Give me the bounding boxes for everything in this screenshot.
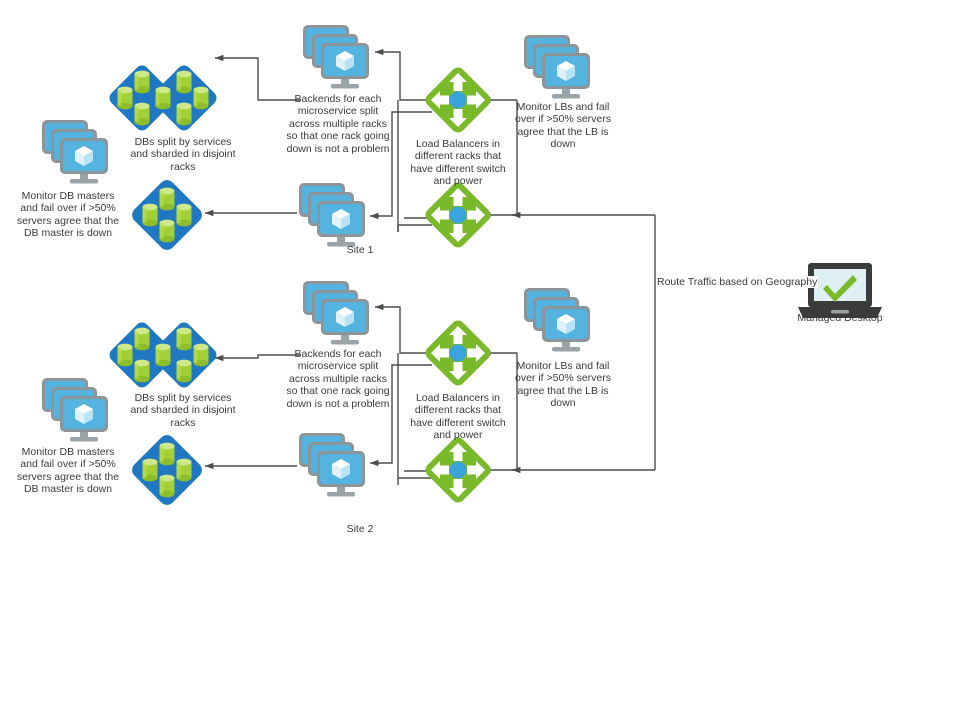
site-1-db-monitor[interactable] — [42, 120, 108, 184]
site-2-load-balancer-secondary[interactable] — [423, 435, 494, 506]
geo-routing-label: Route Traffic based on Geography — [656, 276, 818, 288]
site-2-load-balancer-primary[interactable] — [423, 318, 494, 389]
site-2-backend-servers-secondary[interactable] — [299, 433, 365, 497]
site-1-db-monitor-caption: Monitor DB masters and fail over if >50%… — [8, 190, 128, 240]
site-1-backend-servers-secondary[interactable] — [299, 183, 365, 247]
geo-routing-connectors — [512, 215, 808, 470]
site-1-label: Site 1 — [330, 244, 390, 256]
site-1-load-balancers-caption: Load Balancers in different racks that h… — [405, 138, 511, 188]
site-1-load-balancer-primary[interactable] — [423, 65, 494, 136]
diagram-canvas — [0, 0, 960, 720]
managed-desktop-icon[interactable] — [798, 263, 882, 318]
site-1-db-cluster[interactable] — [107, 63, 220, 134]
managed-desktop-label: Managed Desktop — [790, 312, 890, 324]
site-1-lb-monitor[interactable] — [524, 35, 590, 99]
site-2-lb-monitor-caption: Monitor LBs and fail over if >50% server… — [508, 360, 618, 410]
site-1-lb-monitor-caption: Monitor LBs and fail over if >50% server… — [508, 101, 618, 151]
site-2-db-monitor[interactable] — [42, 378, 108, 442]
site-2-db-monitor-caption: Monitor DB masters and fail over if >50%… — [8, 446, 128, 496]
site-2-load-balancers-caption: Load Balancers in different racks that h… — [405, 392, 511, 442]
site-2-backend-servers[interactable] — [303, 281, 369, 345]
site-2-db-cluster-caption: DBs split by services and sharded in dis… — [123, 392, 243, 429]
site-1-load-balancer-secondary[interactable] — [423, 180, 494, 251]
site-2-backends-caption: Backends for each microservice split acr… — [283, 348, 393, 410]
site-2-db-cluster[interactable] — [107, 320, 220, 391]
site-1-backends-caption: Backends for each microservice split acr… — [283, 93, 393, 155]
site-2-label: Site 2 — [330, 523, 390, 535]
site-1-db-shard[interactable] — [129, 177, 205, 253]
site-2-db-shard[interactable] — [129, 432, 205, 508]
site-1-backend-servers[interactable] — [303, 25, 369, 89]
site-2-lb-monitor[interactable] — [524, 288, 590, 352]
site-1-db-cluster-caption: DBs split by services and sharded in dis… — [123, 136, 243, 173]
